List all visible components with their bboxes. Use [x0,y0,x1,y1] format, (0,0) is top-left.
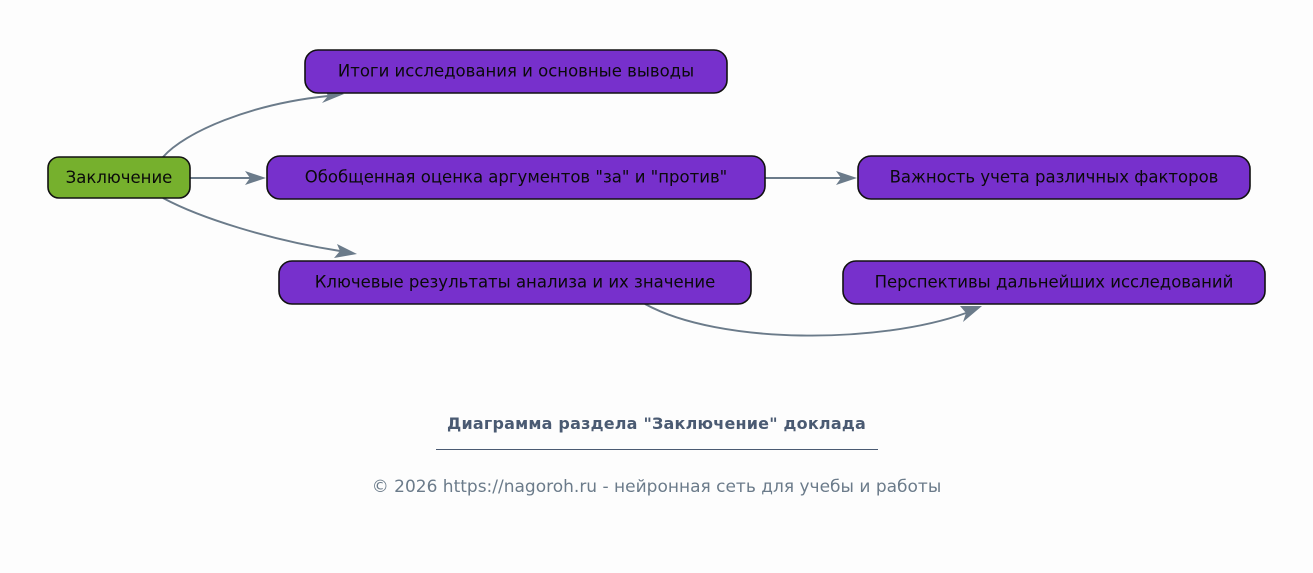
node-itogi-issledovaniya[interactable]: Итоги исследования и основные выводы [305,50,727,93]
node-perspektivy-issledovaniy[interactable]: Перспективы дальнейших исследований [843,261,1265,304]
node-vazhnost-ucheta[interactable]: Важность учета различных факторов [858,156,1250,199]
node-label: Перспективы дальнейших исследований [875,273,1234,292]
footer-text: © 2026 https://nagoroh.ru - нейронная се… [0,476,1313,498]
caption-divider [436,449,878,450]
node-label: Итоги исследования и основные выводы [338,62,694,81]
edge-path [163,198,340,251]
node-label: Важность учета различных факторов [890,168,1219,187]
node-zaklyuchenie[interactable]: Заключение [48,157,190,198]
node-klyuchevye-rezultaty[interactable]: Ключевые результаты анализа и их значени… [279,261,751,304]
node-label: Заключение [66,168,173,187]
node-layer: Заключение Итоги исследования и основные… [48,50,1265,304]
diagram-caption: Диаграмма раздела "Заключение" доклада [0,414,1313,450]
edge-root-to-klyuchevye [163,198,357,258]
edge-path [163,96,328,157]
edge-obobshennaya-to-vazhnost [765,171,857,185]
node-label: Ключевые результаты анализа и их значени… [315,273,716,292]
page-footer: © 2026 https://nagoroh.ru - нейронная се… [0,476,1313,498]
node-label: Обобщенная оценка аргументов "за" и "про… [305,168,728,187]
node-obobshennaya-ocenka[interactable]: Обобщенная оценка аргументов "за" и "про… [267,156,765,199]
edge-root-to-itogi [163,88,344,157]
diagram-canvas: Заключение Итоги исследования и основные… [0,0,1313,573]
caption-title: Диаграмма раздела "Заключение" доклада [0,414,1313,434]
edge-root-to-obobshennaya [190,171,266,185]
edge-klyuchevye-to-perspektivy [645,304,982,336]
edge-path [645,304,966,336]
